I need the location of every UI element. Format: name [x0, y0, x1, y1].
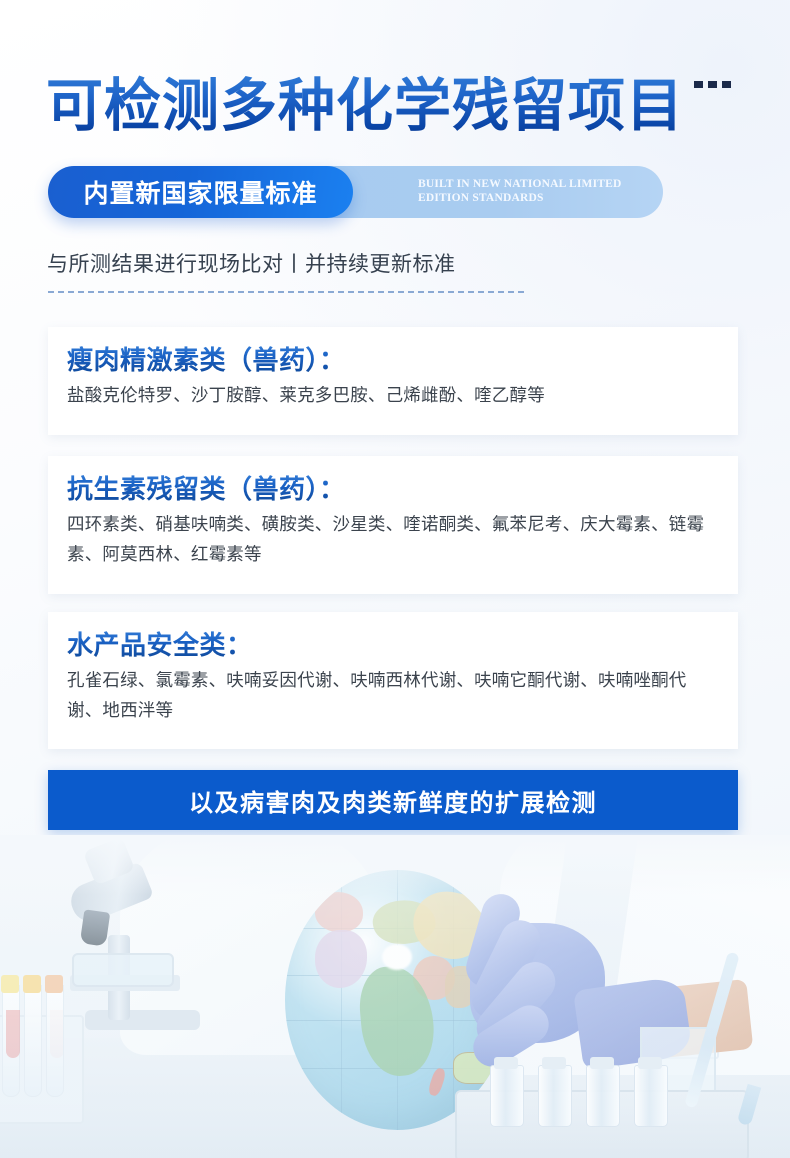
info-card: 抗生素残留类（兽药）： 四环素类、硝基呋喃类、磺胺类、沙星类、喹诺酮类、氟苯尼考… — [48, 456, 738, 594]
promo-page: 可检测多种化学残留项目 BUILT IN NEW NATIONAL LIMITE… — [0, 0, 790, 1158]
three-dots-decor-icon — [694, 81, 731, 88]
info-card-title: 抗生素残留类（兽药）： — [67, 469, 346, 506]
info-card-title: 水产品安全类： — [67, 625, 253, 662]
dot-icon — [694, 81, 703, 88]
badge-secondary-label: BUILT IN NEW NATIONAL LIMITED EDITION ST… — [418, 177, 658, 205]
info-card: 瘦肉精激素类（兽药）： 盐酸克伦特罗、沙丁胺醇、莱克多巴胺、己烯雌酚、喹乙醇等 — [48, 327, 738, 435]
page-subtitle: 与所测结果进行现场比对丨并持续更新标准 — [47, 248, 456, 278]
badge-secondary: BUILT IN NEW NATIONAL LIMITED EDITION ST… — [303, 166, 663, 218]
highlight-banner: 以及病害肉及肉类新鲜度的扩展检测 — [48, 770, 738, 830]
badge-primary-label: 内置新国家限量标准 — [83, 174, 317, 210]
dot-icon — [722, 81, 731, 88]
page-title: 可检测多种化学残留项目 — [46, 74, 684, 140]
info-card-body: 四环素类、硝基呋喃类、磺胺类、沙星类、喹诺酮类、氟苯尼考、庆大霉素、链霉素、阿莫… — [67, 509, 717, 569]
badge-primary: 内置新国家限量标准 — [48, 166, 353, 218]
badge-group: BUILT IN NEW NATIONAL LIMITED EDITION ST… — [48, 166, 618, 222]
photo-top-fade — [0, 835, 790, 895]
info-card: 水产品安全类： 孔雀石绿、氯霉素、呋喃妥因代谢、呋喃西林代谢、呋喃它酮代谢、呋喃… — [48, 612, 738, 749]
info-card-body: 盐酸克伦特罗、沙丁胺醇、莱克多巴胺、己烯雌酚、喹乙醇等 — [67, 380, 717, 410]
highlight-banner-label: 以及病害肉及肉类新鲜度的扩展检测 — [189, 783, 597, 818]
info-card-title: 瘦肉精激素类（兽药）： — [67, 340, 346, 377]
lab-photo — [0, 835, 790, 1158]
dashed-divider — [48, 291, 524, 293]
info-card-body: 孔雀石绿、氯霉素、呋喃妥因代谢、呋喃西林代谢、呋喃它酮代谢、呋喃唑酮代谢、地西泮… — [67, 665, 717, 725]
dot-icon — [708, 81, 717, 88]
